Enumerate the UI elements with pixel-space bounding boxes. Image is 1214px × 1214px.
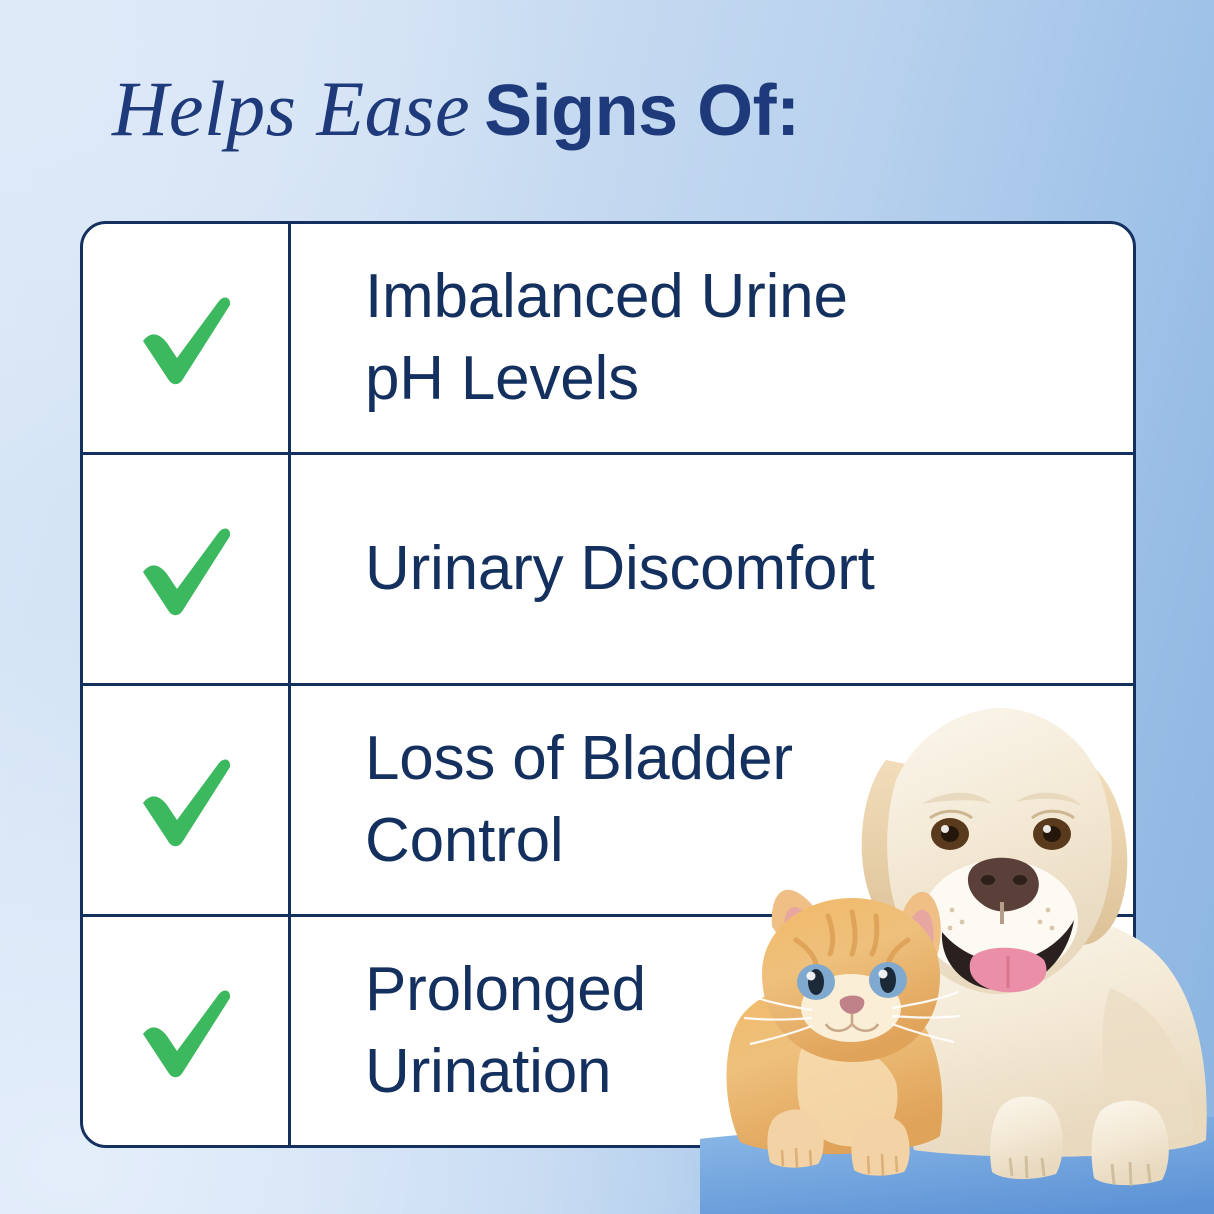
check-cell	[83, 917, 291, 1145]
poster-canvas: Helps EaseSigns Of: Imbalanced Urine pH …	[0, 0, 1214, 1214]
green-check-icon	[127, 279, 245, 397]
sign-label: Loss of Bladder Control	[365, 718, 793, 883]
green-check-icon	[127, 510, 245, 628]
page-title: Helps EaseSigns Of:	[112, 70, 800, 148]
check-cell	[83, 224, 291, 452]
sign-label: Prolonged Urination	[365, 949, 646, 1114]
green-check-icon	[127, 741, 245, 859]
label-cell: Imbalanced Urine pH Levels	[291, 224, 1133, 452]
signs-table: Imbalanced Urine pH Levels Urinary Disco…	[80, 221, 1136, 1148]
green-check-icon	[127, 972, 245, 1090]
table-row: Urinary Discomfort	[83, 455, 1133, 686]
sign-label: Urinary Discomfort	[365, 528, 875, 610]
page-title-italic: Helps Ease	[112, 65, 470, 152]
label-cell: Prolonged Urination	[291, 917, 1133, 1145]
label-cell: Loss of Bladder Control	[291, 686, 1133, 914]
table-row: Loss of Bladder Control	[83, 686, 1133, 917]
table-row: Prolonged Urination	[83, 917, 1133, 1145]
check-cell	[83, 455, 291, 683]
page-title-bold: Signs Of:	[484, 71, 800, 151]
check-cell	[83, 686, 291, 914]
label-cell: Urinary Discomfort	[291, 455, 1133, 683]
sign-label: Imbalanced Urine pH Levels	[365, 256, 848, 421]
table-row: Imbalanced Urine pH Levels	[83, 224, 1133, 455]
